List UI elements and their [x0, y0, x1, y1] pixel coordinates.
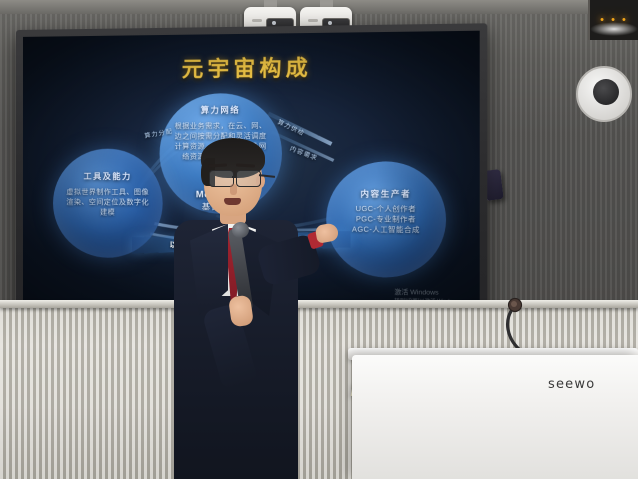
corner-sign-glow [590, 22, 638, 36]
presenter [168, 128, 318, 479]
presenter-mouth [224, 198, 241, 205]
ir-led-icon [272, 21, 276, 25]
podium-knob-icon[interactable] [593, 79, 619, 105]
conference-room-scene: • • • seewo seewo [0, 0, 638, 479]
glasses-bridge [232, 176, 237, 178]
camera-cable [308, 19, 318, 22]
camera-cable [252, 19, 262, 22]
glasses-temple [259, 174, 275, 177]
podium: seewo [352, 355, 638, 479]
glasses-lens-right [236, 170, 261, 187]
ir-led-icon [328, 21, 332, 25]
presenter-left-hand [228, 295, 254, 328]
presenter-nose [230, 184, 237, 195]
corner-illuminated-sign: • • • [588, 0, 638, 40]
podium-brand-label: seewo [548, 377, 595, 392]
